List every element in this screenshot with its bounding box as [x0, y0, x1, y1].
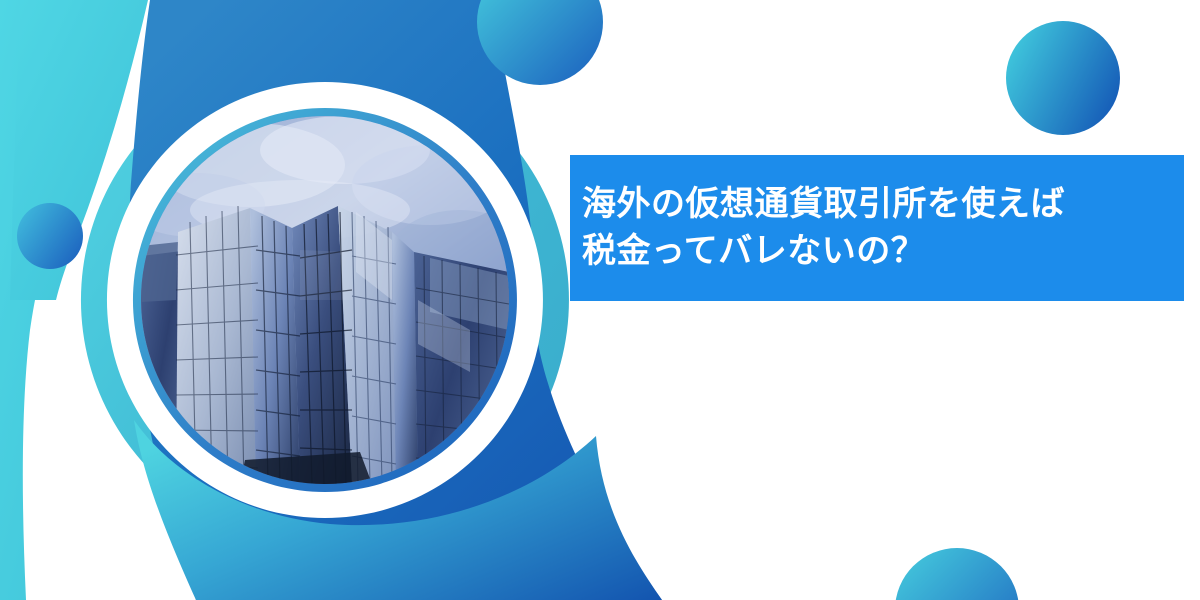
- circle-bottom-right: [895, 548, 1019, 600]
- headline-card: 海外の仮想通貨取引所を使えば 税金ってバレないの？: [570, 155, 1184, 301]
- headline-line-2: 税金ってバレないの？: [582, 228, 1184, 275]
- circle-left-small: [17, 203, 83, 269]
- headline-line-1: 海外の仮想通貨取引所を使えば: [582, 181, 1184, 228]
- circle-top-right: [1006, 21, 1120, 135]
- banner-canvas: 海外の仮想通貨取引所を使えば 税金ってバレないの？: [0, 0, 1200, 600]
